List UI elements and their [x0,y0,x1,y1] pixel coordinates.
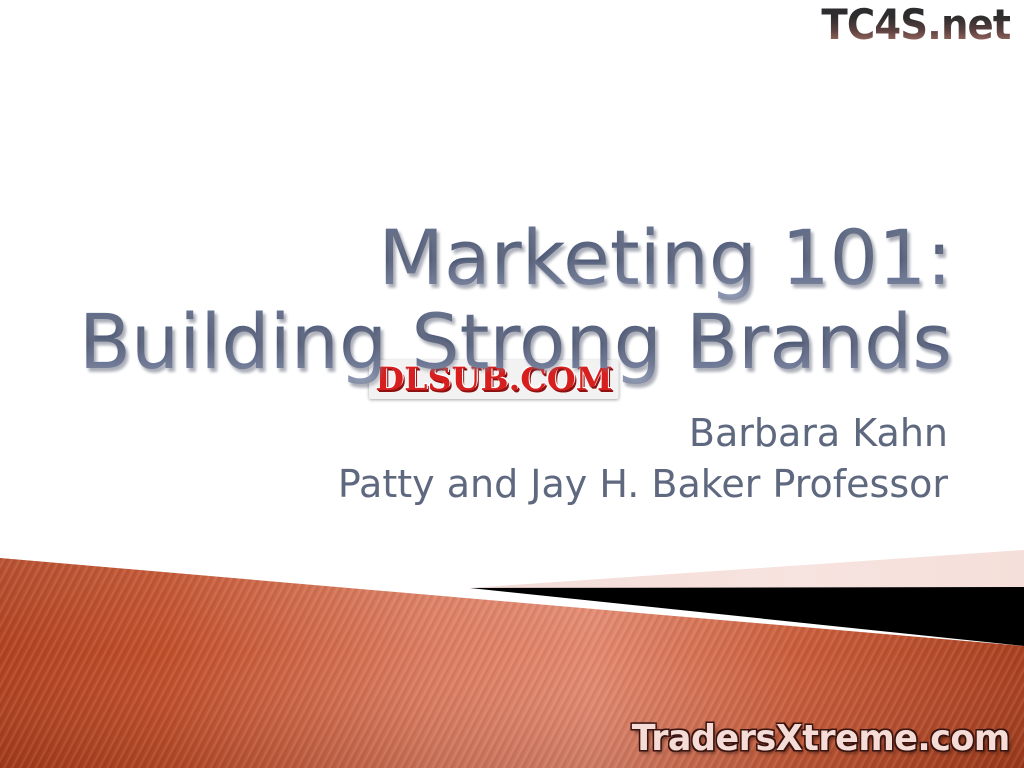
tradersxtreme-watermark: TradersXtreme.com [632,718,1010,760]
slide-subtitle: Barbara Kahn Patty and Jay H. Baker Prof… [0,408,948,510]
title-line-1: Marketing 101: [0,216,952,300]
title-line-2: Building Strong Brands [0,300,952,384]
subtitle-author-name: Barbara Kahn [0,408,948,459]
band-pink-wedge-main [470,550,1024,588]
title-line-2-wrap: Building Strong Brands Building Strong B… [0,300,952,384]
presentation-title-slide: TC4S.net Marketing 101: Marketing 101: B… [0,0,1024,768]
slide-title: Marketing 101: Marketing 101: Building S… [0,216,952,384]
title-line-1-wrap: Marketing 101: Marketing 101: [0,216,952,300]
subtitle-author-title: Patty and Jay H. Baker Professor [0,459,948,510]
tc4s-watermark: TC4S.net [821,2,1010,48]
